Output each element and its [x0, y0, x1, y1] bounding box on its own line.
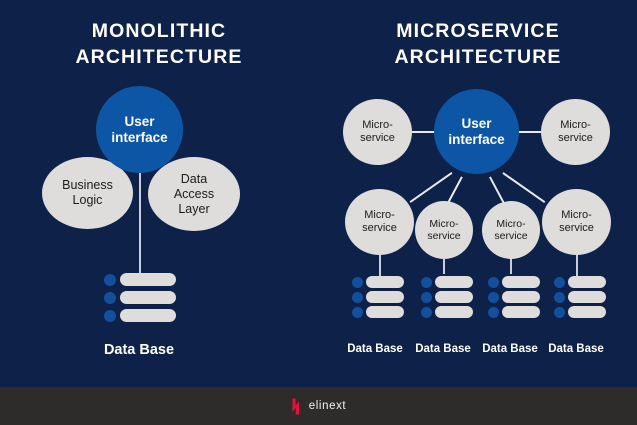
- monolithic-panel-title: MONOLITHIC ARCHITECTURE: [0, 18, 318, 70]
- database-bar: [120, 273, 176, 286]
- database-bar: [568, 291, 606, 303]
- bubble-user-interface-microservice[interactable]: User interface: [434, 89, 519, 174]
- bubble-microservice-row1-2[interactable]: Micro- service: [541, 99, 610, 165]
- connector-monolith-ui-to-database: [139, 170, 141, 275]
- bubble-microservice-row2-2[interactable]: Micro- service: [415, 201, 473, 259]
- database-row: [352, 306, 404, 318]
- database-row: [104, 309, 176, 322]
- database-row: [421, 291, 473, 303]
- microservice-panel-title: MICROSERVICE ARCHITECTURE: [319, 18, 637, 70]
- bubble-user-interface-monolith[interactable]: User interface: [96, 86, 183, 173]
- database-dot-icon: [554, 292, 565, 303]
- database-bar: [366, 291, 404, 303]
- database-dot-icon: [421, 292, 432, 303]
- database-stack-micro-2[interactable]: [421, 276, 473, 318]
- database-row: [104, 291, 176, 304]
- database-bar: [435, 291, 473, 303]
- database-bar: [502, 276, 540, 288]
- database-label-micro-4: Data Base: [537, 343, 615, 355]
- database-bar: [502, 306, 540, 318]
- database-row: [421, 276, 473, 288]
- database-bar: [568, 276, 606, 288]
- database-stack-micro-1[interactable]: [352, 276, 404, 318]
- database-label-monolith: Data Base: [64, 342, 214, 358]
- connector-ui-to-service-left: [412, 131, 435, 133]
- database-dot-icon: [421, 307, 432, 318]
- connector-service-to-database-3: [510, 259, 512, 274]
- database-dot-icon: [104, 274, 116, 286]
- bubble-microservice-row2-1[interactable]: Micro- service: [345, 189, 414, 255]
- bubble-microservice-row2-3[interactable]: Micro- service: [482, 201, 540, 259]
- bubble-microservice-row1-1[interactable]: Micro- service: [343, 99, 412, 165]
- brand-logo[interactable]: elinext: [291, 398, 346, 415]
- database-dot-icon: [488, 292, 499, 303]
- database-row: [554, 306, 606, 318]
- database-bar: [120, 291, 176, 304]
- database-dot-icon: [488, 307, 499, 318]
- database-bar: [366, 276, 404, 288]
- database-bar: [435, 276, 473, 288]
- database-dot-icon: [104, 310, 116, 322]
- database-stack-micro-3[interactable]: [488, 276, 540, 318]
- bubble-data-access-layer[interactable]: Data Access Layer: [148, 157, 240, 231]
- brand-logo-text: elinext: [309, 400, 346, 412]
- database-row: [488, 306, 540, 318]
- connector-ui-to-service-right: [518, 131, 541, 133]
- database-row: [554, 291, 606, 303]
- database-dot-icon: [554, 277, 565, 288]
- slide-canvas: MONOLITHIC ARCHITECTURE MICROSERVICE ARC…: [0, 0, 637, 425]
- connector-service-to-database-4: [576, 254, 578, 276]
- database-dot-icon: [104, 292, 116, 304]
- database-dot-icon: [352, 277, 363, 288]
- elinext-n-lightning-icon: [291, 398, 304, 415]
- database-dot-icon: [352, 292, 363, 303]
- database-dot-icon: [352, 307, 363, 318]
- connector-ui-to-service-row2-1: [410, 172, 453, 203]
- connector-service-to-database-1: [379, 254, 381, 276]
- database-row: [421, 306, 473, 318]
- database-bar: [120, 309, 176, 322]
- database-dot-icon: [554, 307, 565, 318]
- database-bar: [502, 291, 540, 303]
- database-row: [488, 291, 540, 303]
- database-stack-micro-4[interactable]: [554, 276, 606, 318]
- database-label-micro-1: Data Base: [336, 343, 414, 355]
- bubble-microservice-row2-4[interactable]: Micro- service: [542, 189, 611, 255]
- connector-ui-to-service-row2-4: [502, 172, 545, 203]
- database-dot-icon: [421, 277, 432, 288]
- connector-service-to-database-2: [443, 259, 445, 274]
- database-stack-monolith[interactable]: [104, 273, 176, 322]
- database-row: [104, 273, 176, 286]
- database-bar: [366, 306, 404, 318]
- database-bar: [435, 306, 473, 318]
- database-row: [352, 291, 404, 303]
- footer-bar: elinext: [0, 387, 637, 425]
- database-row: [488, 276, 540, 288]
- database-dot-icon: [488, 277, 499, 288]
- database-row: [352, 276, 404, 288]
- database-bar: [568, 306, 606, 318]
- database-row: [554, 276, 606, 288]
